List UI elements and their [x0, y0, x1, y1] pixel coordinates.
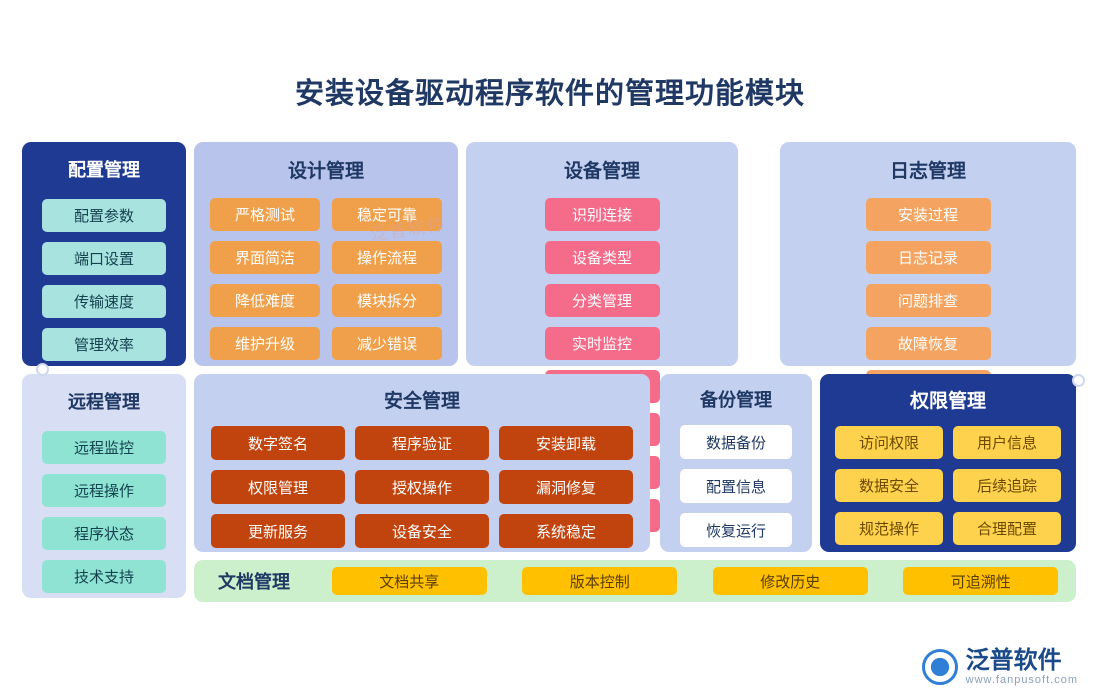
list-item[interactable]: 分类管理: [545, 284, 660, 317]
list-item[interactable]: 规范操作: [835, 512, 943, 545]
list-item[interactable]: 安装过程: [866, 198, 991, 231]
list-item[interactable]: 操作流程: [332, 241, 442, 274]
list-item[interactable]: 日志记录: [866, 241, 991, 274]
panel-device: 设备管理 识别连接 设备类型 分类管理 实时监控 运行状态 性能参数 设备配置 …: [466, 142, 738, 366]
brand-url: www.fanpusoft.com: [966, 674, 1078, 686]
list-item[interactable]: 数字签名: [211, 426, 345, 460]
brand-text: 泛普软件 www.fanpusoft.com: [966, 648, 1078, 686]
list-item[interactable]: 系统稳定: [499, 514, 633, 548]
panel-backup-title: 备份管理: [660, 374, 812, 412]
list-item[interactable]: 严格测试: [210, 198, 320, 231]
brand-logo: 泛普软件 www.fanpusoft.com: [922, 648, 1078, 686]
panel-backup-items: 数据备份 配置信息 恢复运行: [660, 420, 812, 552]
panel-auth: 权限管理 访问权限 用户信息 数据安全 后续追踪 规范操作 合理配置: [820, 374, 1076, 552]
list-item[interactable]: 远程操作: [42, 474, 166, 507]
list-item[interactable]: 远程监控: [42, 431, 166, 464]
list-item[interactable]: 减少错误: [332, 327, 442, 360]
list-item[interactable]: 问题排查: [866, 284, 991, 317]
panel-device-title: 设备管理: [466, 142, 738, 183]
list-item[interactable]: 技术支持: [42, 560, 166, 593]
list-item[interactable]: 管理效率: [42, 328, 166, 361]
connector-dot-left: [36, 363, 49, 376]
panel-config-items: 配置参数 端口设置 传输速度 管理效率: [22, 194, 186, 366]
list-item[interactable]: 故障恢复: [866, 327, 991, 360]
list-item[interactable]: 恢复运行: [680, 513, 792, 547]
list-item[interactable]: 配置信息: [680, 469, 792, 503]
list-item[interactable]: 用户信息: [953, 426, 1061, 459]
list-item[interactable]: 实时监控: [545, 327, 660, 360]
list-item[interactable]: 权限管理: [211, 470, 345, 504]
list-item[interactable]: 授权操作: [355, 470, 489, 504]
list-item[interactable]: 传输速度: [42, 285, 166, 318]
list-item[interactable]: 程序验证: [355, 426, 489, 460]
panel-auth-items: 访问权限 用户信息 数据安全 后续追踪 规范操作 合理配置: [820, 421, 1076, 550]
list-item[interactable]: 数据安全: [835, 469, 943, 502]
list-item[interactable]: 访问权限: [835, 426, 943, 459]
brand-mark-icon: [922, 649, 958, 685]
panel-doc-items: 文档共享 版本控制 修改历史 可追溯性: [314, 567, 1076, 595]
list-item[interactable]: 模块拆分: [332, 284, 442, 317]
panel-security-items: 数字签名 程序验证 安装卸载 权限管理 授权操作 漏洞修复 更新服务 设备安全 …: [194, 421, 650, 553]
panel-design-title: 设计管理: [194, 142, 458, 183]
panel-security: 安全管理 数字签名 程序验证 安装卸载 权限管理 授权操作 漏洞修复 更新服务 …: [194, 374, 650, 552]
list-item[interactable]: 合理配置: [953, 512, 1061, 545]
list-item[interactable]: 修改历史: [713, 567, 868, 595]
list-item[interactable]: 设备安全: [355, 514, 489, 548]
list-item[interactable]: 程序状态: [42, 517, 166, 550]
panel-security-title: 安全管理: [194, 374, 650, 413]
list-item[interactable]: 设备类型: [545, 241, 660, 274]
list-item[interactable]: 降低难度: [210, 284, 320, 317]
list-item[interactable]: 文档共享: [332, 567, 487, 595]
list-item[interactable]: 界面简洁: [210, 241, 320, 274]
panel-design: 设计管理 严格测试 稳定可靠 界面简洁 操作流程 降低难度 模块拆分 维护升级 …: [194, 142, 458, 366]
list-item[interactable]: 端口设置: [42, 242, 166, 275]
panel-auth-title: 权限管理: [820, 374, 1076, 413]
panel-log-title: 日志管理: [780, 142, 1076, 183]
list-item[interactable]: 配置参数: [42, 199, 166, 232]
list-item[interactable]: 维护升级: [210, 327, 320, 360]
list-item[interactable]: 后续追踪: [953, 469, 1061, 502]
panel-remote-items: 远程监控 远程操作 程序状态 技术支持: [22, 426, 186, 598]
list-item[interactable]: 数据备份: [680, 425, 792, 459]
list-item[interactable]: 识别连接: [545, 198, 660, 231]
panel-remote-title: 远程管理: [22, 374, 186, 414]
list-item[interactable]: 安装卸载: [499, 426, 633, 460]
list-item[interactable]: 可追溯性: [903, 567, 1058, 595]
panel-remote: 远程管理 远程监控 远程操作 程序状态 技术支持: [22, 374, 186, 598]
panel-config-title: 配置管理: [22, 142, 186, 182]
page-title: 安装设备驱动程序软件的管理功能模块: [0, 70, 1100, 112]
list-item[interactable]: 更新服务: [211, 514, 345, 548]
list-item[interactable]: 版本控制: [522, 567, 677, 595]
panel-log: 日志管理 安装过程 日志记录 问题排查 故障恢复 运行状态 日志查询 数据支持 …: [780, 142, 1076, 366]
panel-config: 配置管理 配置参数 端口设置 传输速度 管理效率: [22, 142, 186, 366]
list-item[interactable]: 漏洞修复: [499, 470, 633, 504]
panel-backup: 备份管理 数据备份 配置信息 恢复运行: [660, 374, 812, 552]
panel-doc: 文档管理 文档共享 版本控制 修改历史 可追溯性: [194, 560, 1076, 602]
connector-dot-right: [1072, 374, 1085, 387]
panel-doc-title: 文档管理: [194, 568, 314, 594]
brand-name: 泛普软件: [966, 648, 1078, 674]
